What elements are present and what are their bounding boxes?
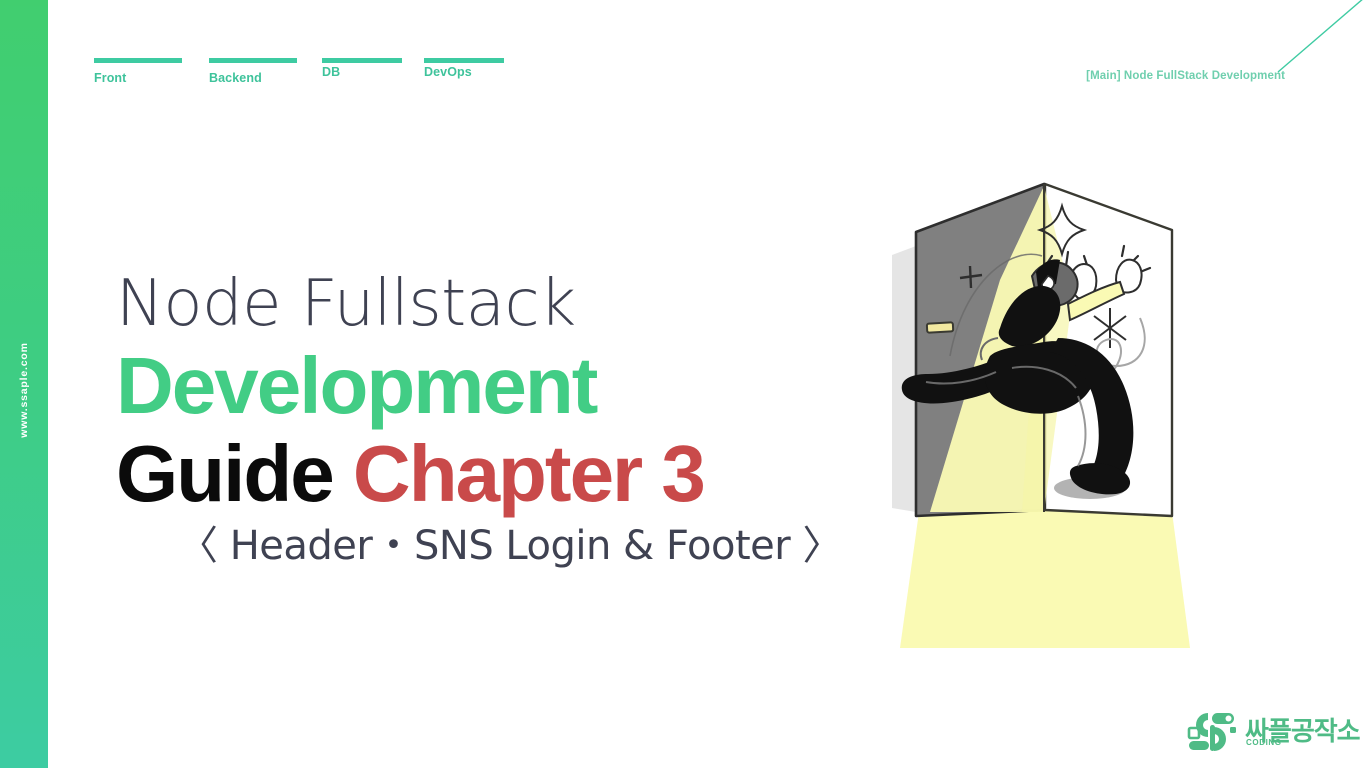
brand-tagline: CODING [1246,739,1282,747]
presentation-slide: www.ssaple.com Front Backend DB DevOps [… [0,0,1366,768]
brand-logo: 싸플공작소 CODING [1186,704,1346,760]
nav-label-db: DB [322,65,402,79]
website-url-label: www.ssaple.com [18,342,30,437]
headline-word-guide: Guide [116,429,333,518]
nav-item-front[interactable]: Front [94,58,182,85]
subtitle-topic-header: Header [230,523,373,569]
nav-label-devops: DevOps [424,65,504,79]
nav-item-devops[interactable]: DevOps [424,58,504,79]
headline-line-3: Guide Chapter 3 [116,434,816,514]
headline-subtitle: 〈 Header • SNS Login & Footer 〉 [178,526,816,566]
headline-line-2: Development [116,346,816,426]
slide-section-tag: [Main] Node FullStack Development [1086,70,1285,82]
ssaple-mark-icon [1186,707,1238,758]
headline-block: Node Fullstack Development Guide Chapter… [116,272,816,566]
nav-label-backend: Backend [209,71,297,85]
door-opening-illustration [872,160,1212,660]
headline-line-1: Node Fullstack [116,272,816,336]
subtitle-close-bracket: 〉 [802,523,842,569]
nav-item-backend[interactable]: Backend [209,58,297,85]
door-handle [927,322,953,332]
nav-label-front: Front [94,71,182,85]
subtitle-topic-sns-login-footer: SNS Login & Footer [414,523,790,569]
brand-wordmark: 싸플공작소 CODING [1245,719,1360,745]
nav-underline-db [322,58,402,63]
nav-underline-devops [424,58,504,63]
nav-underline-front [94,58,182,63]
side-rail: www.ssaple.com [0,0,48,768]
headline-word-chapter: Chapter 3 [353,429,704,518]
nav-underline-backend [209,58,297,63]
corner-accent-line [1276,0,1366,78]
subtitle-separator-dot: • [385,528,402,563]
nav-item-db[interactable]: DB [322,58,402,79]
subtitle-open-bracket: 〈 [178,523,218,569]
